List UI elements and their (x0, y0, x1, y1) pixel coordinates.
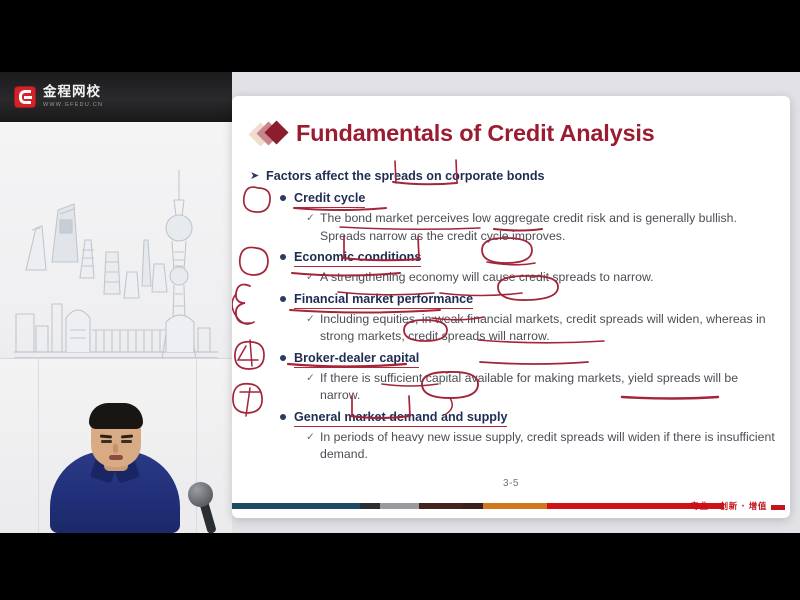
list-item-detail: ✓ In periods of heavy new issue supply, … (306, 429, 776, 464)
check-bullet-icon: ✓ (306, 269, 320, 286)
bullet-detail-text: A strengthening economy will cause credi… (320, 269, 654, 287)
presenter-nose (113, 444, 118, 453)
colorbar-segment-2 (380, 503, 419, 509)
presentation-slide[interactable]: Fundamentals of Credit Analysis ➤ Factor… (232, 96, 790, 518)
colorbar-segment-5 (483, 503, 547, 509)
list-item: General market demand and supply (280, 409, 776, 427)
presenter-figure (50, 383, 180, 533)
presenter-eyebrow-left (100, 434, 112, 438)
presenter-eye-right (121, 440, 132, 443)
bullet-heading: Economic conditions (294, 249, 421, 267)
presenter-mouth (109, 455, 123, 460)
slide-footer-colorbar (232, 503, 724, 509)
video-player-screen: 金程网校 WWW.GFEDU.CN (0, 0, 800, 600)
brand-name-cn: 金程网校 (43, 86, 103, 100)
letterbox-bottom-bar (0, 533, 800, 600)
brand-logo-bar: 金程网校 WWW.GFEDU.CN (0, 72, 232, 122)
list-item: Financial market performance (280, 291, 776, 309)
list-item-detail: ✓ Including equities, in weak financial … (306, 311, 776, 346)
bullet-detail-text: If there is sufficient capital available… (320, 370, 776, 405)
letterbox-top-bar (0, 0, 800, 72)
check-bullet-icon: ✓ (306, 370, 320, 387)
slide-content: ➤ Factors affect the spreads on corporat… (250, 168, 776, 468)
gfedu-logo-icon (14, 86, 36, 108)
round-bullet-icon (280, 414, 286, 420)
microphone-icon (188, 482, 213, 507)
round-bullet-icon (280, 254, 286, 260)
check-bullet-icon: ✓ (306, 429, 320, 446)
bullet-detail-text: In periods of heavy new issue supply, cr… (320, 429, 776, 464)
round-bullet-icon (280, 195, 286, 201)
lead-bullet-text: Factors affect the spreads on corporate … (266, 168, 545, 184)
brand-url: WWW.GFEDU.CN (43, 103, 103, 108)
list-item-detail: ✓ The bond market perceives low aggregat… (306, 210, 776, 245)
bullet-heading: General market demand and supply (294, 409, 507, 427)
presenter-eye-left (101, 440, 112, 443)
lecture-stage: 金程网校 WWW.GFEDU.CN (0, 72, 800, 533)
wall-panel-line-right (196, 358, 197, 533)
list-item: Broker-dealer capital (280, 350, 776, 368)
slide-page-number: 3-5 (232, 478, 790, 489)
colorbar-segment-0 (232, 503, 360, 509)
colorbar-segment-4 (463, 503, 483, 509)
bullet-heading: Financial market performance (294, 291, 473, 309)
diamond-ornament-icon (252, 121, 290, 147)
wall-panel-line-left (38, 358, 39, 533)
list-item: Credit cycle (280, 190, 776, 208)
footer-slogan: 专业 · 创新 · 增值 (691, 500, 768, 512)
bullet-heading: Credit cycle (294, 190, 365, 208)
round-bullet-icon (280, 355, 286, 361)
footer-red-chip (771, 505, 785, 510)
bullet-detail-text: Including equities, in weak financial ma… (320, 311, 776, 346)
bullet-detail-text: The bond market perceives low aggregate … (320, 210, 776, 245)
list-item-detail: ✓ A strengthening economy will cause cre… (306, 269, 776, 287)
list-item-detail: ✓ If there is sufficient capital availab… (306, 370, 776, 405)
colorbar-segment-3 (419, 503, 463, 509)
bullet-heading: Broker-dealer capital (294, 350, 419, 368)
presenter-video-panel[interactable]: 金程网校 WWW.GFEDU.CN (0, 72, 232, 533)
list-item: Economic conditions (280, 249, 776, 267)
presenter-eyebrow-right (121, 434, 133, 438)
arrow-bullet-icon: ➤ (250, 168, 266, 184)
brand-logo-text: 金程网校 WWW.GFEDU.CN (43, 86, 103, 108)
slide-title-row: Fundamentals of Credit Analysis (252, 120, 655, 147)
lead-bullet: ➤ Factors affect the spreads on corporat… (250, 168, 776, 184)
slide-title: Fundamentals of Credit Analysis (296, 120, 655, 147)
check-bullet-icon: ✓ (306, 210, 320, 227)
colorbar-segment-1 (360, 503, 380, 509)
presenter-hair (89, 403, 143, 429)
round-bullet-icon (280, 296, 286, 302)
check-bullet-icon: ✓ (306, 311, 320, 328)
